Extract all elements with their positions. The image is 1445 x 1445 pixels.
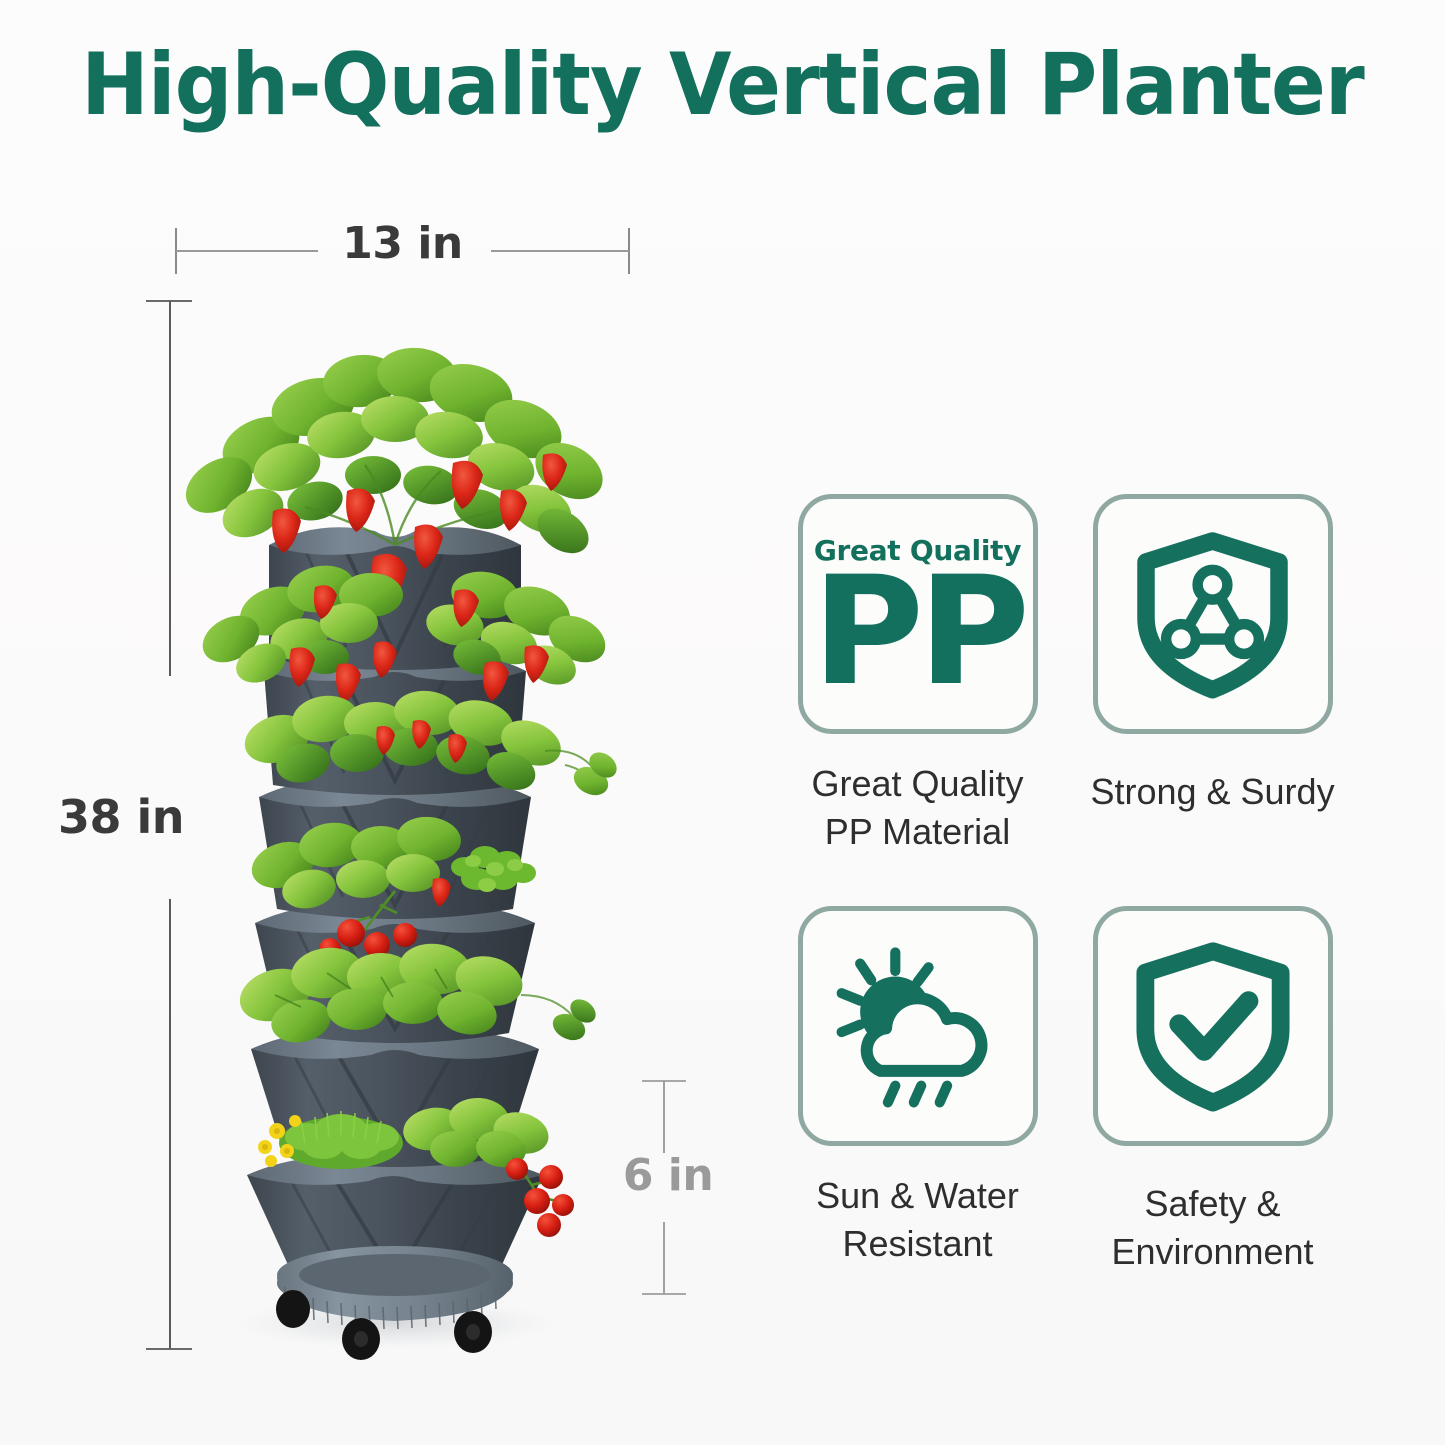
safety-environment-badge — [1093, 906, 1333, 1146]
dimension-tier-bar-top — [663, 1081, 665, 1153]
shield-check-icon — [1124, 937, 1302, 1115]
feature-great-quality-pp: Great Quality PP Great Quality PP Materi… — [775, 480, 1060, 880]
vertical-planter-image — [165, 295, 625, 1365]
feature-caption-strong-sturdy: Strong & Surdy — [1070, 768, 1355, 816]
strong-sturdy-badge — [1093, 494, 1333, 734]
dimension-tier-label: 6 in — [593, 1150, 743, 1201]
feature-caption-great-quality: Great Quality PP Material — [775, 760, 1060, 855]
feature-caption-safety-environment: Safety & Environment — [1070, 1180, 1355, 1275]
product-illustration-area: 13 in 38 in 6 in — [60, 200, 760, 1400]
infographic-page: High-Quality Vertical Planter — [0, 0, 1445, 1445]
dimension-tier-bar-bottom — [663, 1222, 665, 1294]
sun-cloud-rain-icon — [825, 934, 1010, 1119]
feature-caption-sun-water: Sun & Water Resistant — [775, 1172, 1060, 1267]
feature-safety-environment: Safety & Environment — [1070, 892, 1355, 1292]
feature-sun-water-resistant: Sun & Water Resistant — [775, 892, 1060, 1292]
pp-material-badge: Great Quality PP — [798, 494, 1038, 734]
page-title: High-Quality Vertical Planter — [43, 42, 1401, 128]
badge-pp-letters: PP — [811, 569, 1023, 697]
sun-water-badge — [798, 906, 1038, 1146]
feature-grid: Great Quality PP Great Quality PP Materi… — [770, 480, 1370, 1290]
dimension-height: 38 in — [62, 300, 222, 1350]
dimension-width: 13 in — [175, 228, 630, 274]
feature-strong-sturdy: Strong & Surdy — [1070, 480, 1355, 880]
dimension-height-bar-bottom — [169, 899, 171, 1349]
dimension-tier-height: 6 in — [605, 1080, 750, 1295]
dimension-width-label: 13 in — [175, 218, 630, 269]
shield-molecule-icon — [1125, 527, 1300, 702]
dimension-height-bar-top — [169, 301, 171, 676]
dimension-height-label: 38 in — [58, 790, 223, 844]
